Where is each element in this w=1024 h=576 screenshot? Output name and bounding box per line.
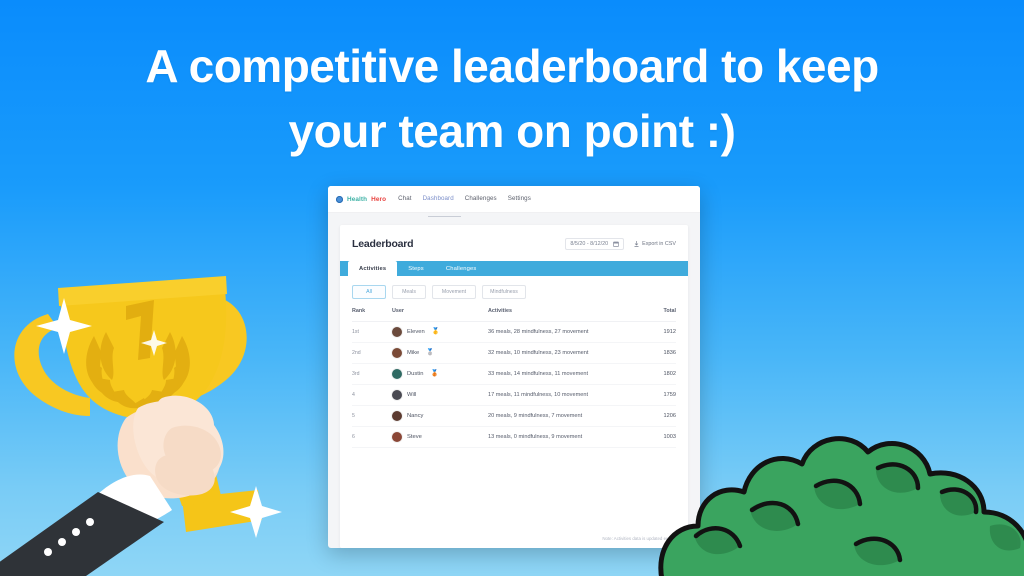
page-title: Leaderboard [352,238,413,250]
avatar [392,327,402,337]
column-header-user: User [392,308,488,314]
row-activities: 17 meals, 11 mindfulness, 10 movement [488,392,638,398]
row-rank: 2nd [352,350,392,356]
table-row[interactable]: 5 Nancy 20 meals, 9 mindfulness, 7 movem… [352,406,676,427]
row-username: Steve [407,434,422,440]
avatar [392,411,402,421]
row-username: Mike [407,350,419,356]
leaderboard-card: Leaderboard 8/5/20 - 8/12/20 Export i [340,225,688,548]
row-username: Eleven [407,329,425,335]
row-user: Mike 🥈 [392,348,488,358]
globe-icon [336,196,343,203]
app-topnav: Health Hero Chat Dashboard Challenges Se… [328,186,700,213]
table-row[interactable]: 6 Steve 13 meals, 0 mindfulness, 9 movem… [352,427,676,448]
calendar-icon [613,241,619,247]
tab-challenges[interactable]: Challenges [435,261,488,276]
filter-pills: All Meals Movement Mindfulness [340,276,688,307]
download-icon [634,241,639,247]
nav-item-chat[interactable]: Chat [398,195,411,203]
filter-movement[interactable]: Movement [432,285,476,299]
row-user: Steve [392,432,488,442]
nav-item-challenges[interactable]: Challenges [465,195,497,203]
table-row[interactable]: 4 Will 17 meals, 11 mindfulness, 10 move… [352,385,676,406]
row-total: 1912 [638,329,676,335]
avatar [392,348,402,358]
brand-logo[interactable]: Health Hero [336,196,386,203]
row-rank: 4 [352,392,392,398]
row-rank: 1st [352,329,392,335]
date-range-picker[interactable]: 8/5/20 - 8/12/20 [565,238,624,250]
brand-hero-text: Hero [371,196,386,203]
row-rank: 5 [352,413,392,419]
row-activities: 36 meals, 28 mindfulness, 27 movement [488,329,638,335]
tab-bar: Activities Steps Challenges [340,261,688,276]
row-rank: 6 [352,434,392,440]
date-range-value: 8/5/20 - 8/12/20 [570,241,608,247]
page-headline: A competitive leaderboard to keep your t… [0,34,1024,165]
table-header-row: Rank User Activities Total [352,307,676,322]
row-user: Nancy [392,411,488,421]
avatar [392,432,402,442]
filter-all[interactable]: All [352,285,386,299]
page-body: Leaderboard 8/5/20 - 8/12/20 Export i [328,213,700,548]
app-window: Health Hero Chat Dashboard Challenges Se… [328,186,700,548]
column-header-rank: Rank [352,308,392,314]
leaderboard-table: Rank User Activities Total 1st Eleven 🥇 … [340,307,688,448]
column-header-activities: Activities [488,308,638,314]
trophy-illustration [0,270,316,576]
row-user: Dustin 🥉 [392,369,488,379]
headline-line-1: A competitive leaderboard to keep [0,34,1024,99]
row-activities: 20 meals, 9 mindfulness, 7 movement [488,413,638,419]
bush-illustration [654,380,1024,576]
table-row[interactable]: 3rd Dustin 🥉 33 meals, 14 mindfulness, 1… [352,364,676,385]
filter-meals[interactable]: Meals [392,285,426,299]
brand-health-text: Health [347,196,367,203]
table-row[interactable]: 2nd Mike 🥈 32 meals, 10 mindfulness, 23 … [352,343,676,364]
tab-activities[interactable]: Activities [348,261,397,276]
avatar [392,369,402,379]
silver-medal-icon: 🥈 [426,350,434,357]
avatar [392,390,402,400]
gold-medal-icon: 🥇 [432,329,440,336]
table-row[interactable]: 1st Eleven 🥇 36 meals, 28 mindfulness, 2… [352,322,676,343]
row-username: Will [407,392,416,398]
main-navigation: Chat Dashboard Challenges Settings [398,195,531,203]
row-total: 1836 [638,350,676,356]
export-csv-label: Export in CSV [642,241,676,247]
active-nav-underline [428,216,461,217]
nav-item-dashboard[interactable]: Dashboard [423,195,454,203]
row-activities: 33 meals, 14 mindfulness, 11 movement [488,371,638,377]
card-header-actions: 8/5/20 - 8/12/20 Export in CSV [565,238,676,250]
row-username: Nancy [407,413,423,419]
nav-item-settings[interactable]: Settings [508,195,531,203]
filter-mindfulness[interactable]: Mindfulness [482,285,526,299]
column-header-total: Total [638,308,676,314]
row-total: 1802 [638,371,676,377]
bronze-medal-icon: 🥉 [430,371,438,378]
row-rank: 3rd [352,371,392,377]
row-activities: 32 meals, 10 mindfulness, 23 movement [488,350,638,356]
tab-steps[interactable]: Steps [397,261,435,276]
card-header: Leaderboard 8/5/20 - 8/12/20 Export i [340,225,688,261]
row-activities: 13 meals, 0 mindfulness, 9 movement [488,434,638,440]
row-user: Eleven 🥇 [392,327,488,337]
export-csv-button[interactable]: Export in CSV [634,241,676,247]
headline-line-2: your team on point :) [0,99,1024,164]
row-user: Will [392,390,488,400]
row-username: Dustin [407,371,423,377]
